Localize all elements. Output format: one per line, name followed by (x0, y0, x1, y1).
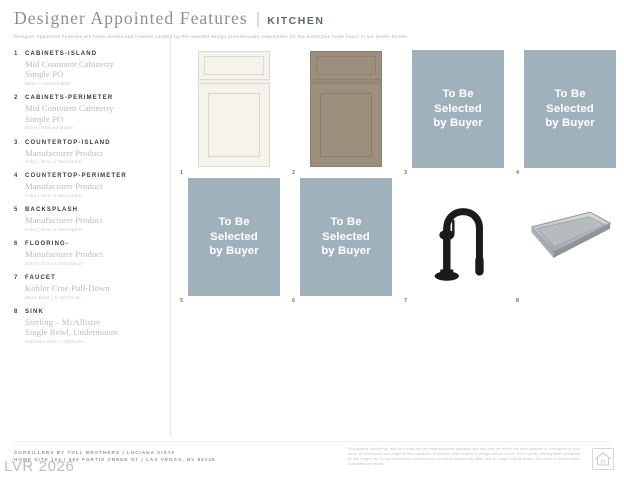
vertical-divider (170, 38, 171, 436)
section-title: KITCHEN (267, 15, 324, 27)
spec-heading: 8SINK (14, 308, 164, 317)
watermark: LVR 2026 (4, 458, 74, 475)
placeholder-line: Selected (434, 102, 482, 117)
spec-heading: 6FLOORING- (14, 240, 164, 249)
spec-heading: 2CABINETS-PERIMETER (14, 94, 164, 103)
spec-heading: 3COUNTERTOP-ISLAND (14, 139, 164, 148)
grid-cell[interactable]: To BeSelectedby Buyer3 (404, 50, 513, 178)
spec-number: 2 (14, 94, 25, 103)
grid-cell[interactable]: To BeSelectedby Buyer4 (516, 50, 624, 178)
cell-number: 8 (516, 298, 519, 304)
spec-details: Manufacturer ProductColor | Size or Desc… (25, 148, 164, 166)
spec-details: Mid Continent CabinetrySimple POMorel | … (25, 103, 164, 131)
spec-number: 7 (14, 274, 25, 283)
spec-label: BACKSPLASH (25, 206, 78, 215)
to-be-selected-placeholder: To BeSelectedby Buyer (524, 50, 616, 168)
spec-item: 5BACKSPLASHManufacturer ProductColor | S… (14, 206, 164, 233)
placeholder-line: To Be (218, 215, 249, 230)
cell-media (300, 50, 392, 168)
page-subtitle: Designer Appointed Features are home det… (14, 34, 610, 39)
cell-media (412, 178, 504, 296)
spec-meta: Matte Black | K-22972-BL (25, 295, 164, 301)
spec-details: Manufacturer ProductColor | Size or Desc… (25, 181, 164, 199)
cell-media (188, 50, 280, 168)
placeholder-line: Selected (546, 102, 594, 117)
spec-product-name: Kohler Crue Pull-Down (25, 283, 164, 293)
spec-meta: Color | Size or Description (25, 261, 164, 267)
footer-line-1: CORDILLERA BY TOLL BROTHERS | LUCIANA VI… (14, 449, 216, 456)
cell-media: To BeSelectedby Buyer (412, 50, 504, 168)
cabinet-door-image (198, 51, 270, 167)
spec-item: 2CABINETS-PERIMETERMid Continent Cabinet… (14, 94, 164, 131)
placeholder-line: by Buyer (433, 116, 483, 131)
spec-item: 8SINKSterling – McAllisterSingle Bowl, U… (14, 308, 164, 345)
placeholder-line: Selected (322, 230, 370, 245)
spec-product-variant: Single Bowl, Undermount (25, 327, 164, 337)
equal-housing-opportunity-icon (592, 448, 614, 470)
image-grid: 12To BeSelectedby Buyer3To BeSelectedby … (180, 50, 624, 306)
spec-meta: Color | Size or Description (25, 227, 164, 233)
placeholder-line: by Buyer (321, 244, 371, 259)
spec-product-name: Sterling – McAllister (25, 317, 164, 327)
placeholder-line: Selected (210, 230, 258, 245)
spec-product-name: Manufacturer Product (25, 215, 164, 225)
spec-details: Kohler Crue Pull-DownMatte Black | K-229… (25, 283, 164, 301)
spec-label: FLOORING- (25, 240, 69, 249)
spec-details: Manufacturer ProductColor | Size or Desc… (25, 249, 164, 267)
spec-number: 6 (14, 240, 25, 249)
cell-number: 6 (292, 298, 295, 304)
spec-label: FAUCET (25, 274, 56, 283)
grid-cell[interactable]: To BeSelectedby Buyer6 (292, 178, 401, 306)
spec-product-name: Mid Continent Cabinetry (25, 59, 164, 69)
spec-label: COUNTERTOP-PERIMETER (25, 172, 127, 181)
spec-number: 4 (14, 172, 25, 181)
spec-meta: Stainless Steel | 76500-NA (25, 339, 164, 345)
cell-number: 2 (292, 170, 295, 176)
spec-label: CABINETS-ISLAND (25, 50, 97, 59)
cell-media: To BeSelectedby Buyer (524, 50, 616, 168)
spec-number: 5 (14, 206, 25, 215)
cell-media (524, 178, 616, 296)
spec-product-name: Manufacturer Product (25, 249, 164, 259)
cell-media: To BeSelectedby Buyer (300, 178, 392, 296)
page-header: Designer Appointed Features | KITCHEN De… (14, 8, 610, 39)
placeholder-line: by Buyer (545, 116, 595, 131)
spec-heading: 5BACKSPLASH (14, 206, 164, 215)
spec-meta: Morel | Stained Maple (25, 125, 164, 131)
spec-list: 1CABINETS-ISLANDMid Continent CabinetryS… (14, 50, 164, 352)
cabinet-door-image (310, 51, 382, 167)
grid-cell[interactable]: 7 (404, 178, 513, 306)
spec-item: 7FAUCETKohler Crue Pull-DownMatte Black … (14, 274, 164, 301)
legal-disclaimer: Photographs, renderings, and floor plans… (348, 447, 580, 467)
spec-number: 8 (14, 308, 25, 317)
spec-item: 1CABINETS-ISLANDMid Continent CabinetryS… (14, 50, 164, 87)
spec-product-variant: Simple PO (25, 114, 164, 124)
spec-details: Sterling – McAllisterSingle Bowl, Underm… (25, 317, 164, 345)
spec-label: SINK (25, 308, 44, 317)
cell-number: 1 (180, 170, 183, 176)
cell-number: 5 (180, 298, 183, 304)
spec-label: COUNTERTOP-ISLAND (25, 139, 111, 148)
sink-image (526, 203, 614, 272)
placeholder-line: To Be (442, 87, 473, 102)
page-title: Designer Appointed Features (14, 8, 248, 29)
footer-disclaimer-block: Photographs, renderings, and floor plans… (348, 447, 580, 467)
spec-item: 3COUNTERTOP-ISLANDManufacturer ProductCo… (14, 139, 164, 166)
spec-heading: 7FAUCET (14, 274, 164, 283)
feature-sheet-page: Designer Appointed Features | KITCHEN De… (0, 0, 624, 480)
spec-number: 3 (14, 139, 25, 148)
faucet-image (416, 179, 500, 296)
spec-product-name: Mid Continent Cabinetry (25, 103, 164, 113)
placeholder-line: To Be (554, 87, 585, 102)
placeholder-line: by Buyer (209, 244, 259, 259)
to-be-selected-placeholder: To BeSelectedby Buyer (300, 178, 392, 296)
grid-cell[interactable]: 2 (292, 50, 401, 178)
to-be-selected-placeholder: To BeSelectedby Buyer (412, 50, 504, 168)
spec-product-name: Manufacturer Product (25, 148, 164, 158)
cell-number: 3 (404, 170, 407, 176)
footer-divider (14, 441, 610, 442)
cell-number: 7 (404, 298, 407, 304)
spec-label: CABINETS-PERIMETER (25, 94, 113, 103)
grid-row: 12To BeSelectedby Buyer3To BeSelectedby … (180, 50, 624, 178)
grid-cell[interactable]: To BeSelectedby Buyer5 (180, 178, 289, 306)
spec-item: 4COUNTERTOP-PERIMETERManufacturer Produc… (14, 172, 164, 199)
grid-cell[interactable]: 8 (516, 178, 624, 306)
spec-heading: 1CABINETS-ISLAND (14, 50, 164, 59)
spec-meta: Elswn | Painted MDF (25, 81, 164, 87)
cell-number: 4 (516, 170, 519, 176)
spec-meta: Color | Size or Description (25, 159, 164, 165)
spec-heading: 4COUNTERTOP-PERIMETER (14, 172, 164, 181)
spec-product-name: Manufacturer Product (25, 181, 164, 191)
spec-details: Mid Continent CabinetrySimple POElswn | … (25, 59, 164, 87)
spec-number: 1 (14, 50, 25, 59)
spec-details: Manufacturer ProductColor | Size or Desc… (25, 215, 164, 233)
cell-media: To BeSelectedby Buyer (188, 178, 280, 296)
spec-product-variant: Simple PO (25, 69, 164, 79)
grid-cell[interactable]: 1 (180, 50, 289, 178)
title-separator: | (256, 9, 260, 29)
grid-row: To BeSelectedby Buyer5To BeSelectedby Bu… (180, 178, 624, 306)
title-row: Designer Appointed Features | KITCHEN (14, 8, 610, 29)
placeholder-line: To Be (330, 215, 361, 230)
spec-meta: Color | Size or Description (25, 193, 164, 199)
to-be-selected-placeholder: To BeSelectedby Buyer (188, 178, 280, 296)
spec-item: 6FLOORING-Manufacturer ProductColor | Si… (14, 240, 164, 267)
